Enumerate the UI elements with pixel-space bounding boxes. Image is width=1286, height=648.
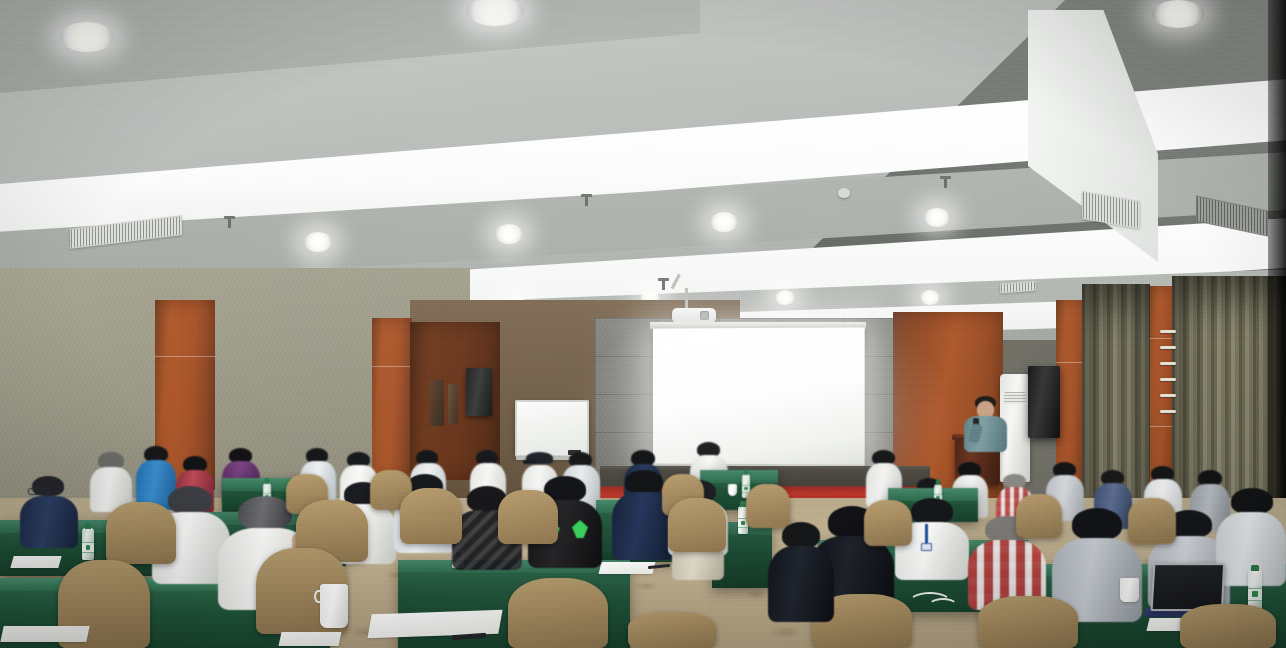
fire-sprinkler-head	[662, 280, 665, 290]
recessed-downlight	[775, 290, 795, 305]
projector-mount-pole	[685, 288, 688, 310]
chair	[1016, 494, 1062, 538]
recessed-downlight	[304, 232, 332, 252]
cable-bundle	[928, 598, 958, 614]
cap-brim	[523, 460, 537, 464]
cup-handle	[314, 590, 323, 603]
chair	[1180, 604, 1276, 648]
chair	[668, 498, 726, 552]
projector-lens-icon	[700, 311, 709, 320]
eyeglasses	[28, 488, 50, 495]
fire-sprinkler-head	[944, 178, 947, 188]
projection-screen-content	[653, 327, 865, 336]
pa-loudspeaker-left	[466, 368, 492, 416]
curtain-hooks	[1160, 330, 1176, 426]
presenter	[962, 396, 1008, 452]
chair	[628, 612, 716, 648]
attendee	[90, 452, 132, 510]
paper-cup	[1120, 578, 1139, 602]
projection-screen	[653, 327, 865, 466]
attendee	[768, 522, 834, 620]
attendee-badge	[921, 543, 932, 551]
chair	[106, 502, 176, 564]
smoke-detector	[838, 188, 850, 198]
whiteboard	[515, 400, 589, 457]
paper-cup	[728, 484, 737, 496]
chair	[1128, 498, 1176, 544]
chair	[864, 500, 912, 546]
ceiling-projector	[672, 308, 716, 323]
recessed-downlight	[495, 224, 523, 244]
attendee	[20, 476, 78, 546]
recessed-downlight	[60, 22, 114, 52]
wood-column-detail	[430, 380, 444, 426]
paper-sheet	[279, 632, 342, 646]
conference-room-photo	[0, 0, 1286, 648]
chair	[978, 596, 1078, 648]
paper-cup	[320, 584, 348, 628]
wood-column-detail	[448, 384, 458, 424]
paper-sheet	[599, 562, 656, 574]
fire-sprinkler-head	[585, 196, 588, 206]
paper-sheet	[10, 556, 61, 568]
fire-sprinkler-head	[228, 218, 231, 228]
recessed-downlight	[1152, 0, 1204, 28]
chair	[508, 578, 608, 648]
water-bottle	[1248, 570, 1262, 610]
attendee-trousers	[672, 550, 724, 580]
wood-pilaster	[372, 318, 412, 483]
recessed-downlight	[924, 208, 950, 227]
water-bottle	[82, 528, 94, 560]
paper-sheet	[0, 626, 89, 642]
pa-loudspeaker-right	[1028, 366, 1060, 438]
recessed-downlight	[920, 290, 940, 305]
recessed-downlight	[710, 212, 738, 232]
chair	[498, 490, 558, 544]
chair	[400, 488, 462, 544]
